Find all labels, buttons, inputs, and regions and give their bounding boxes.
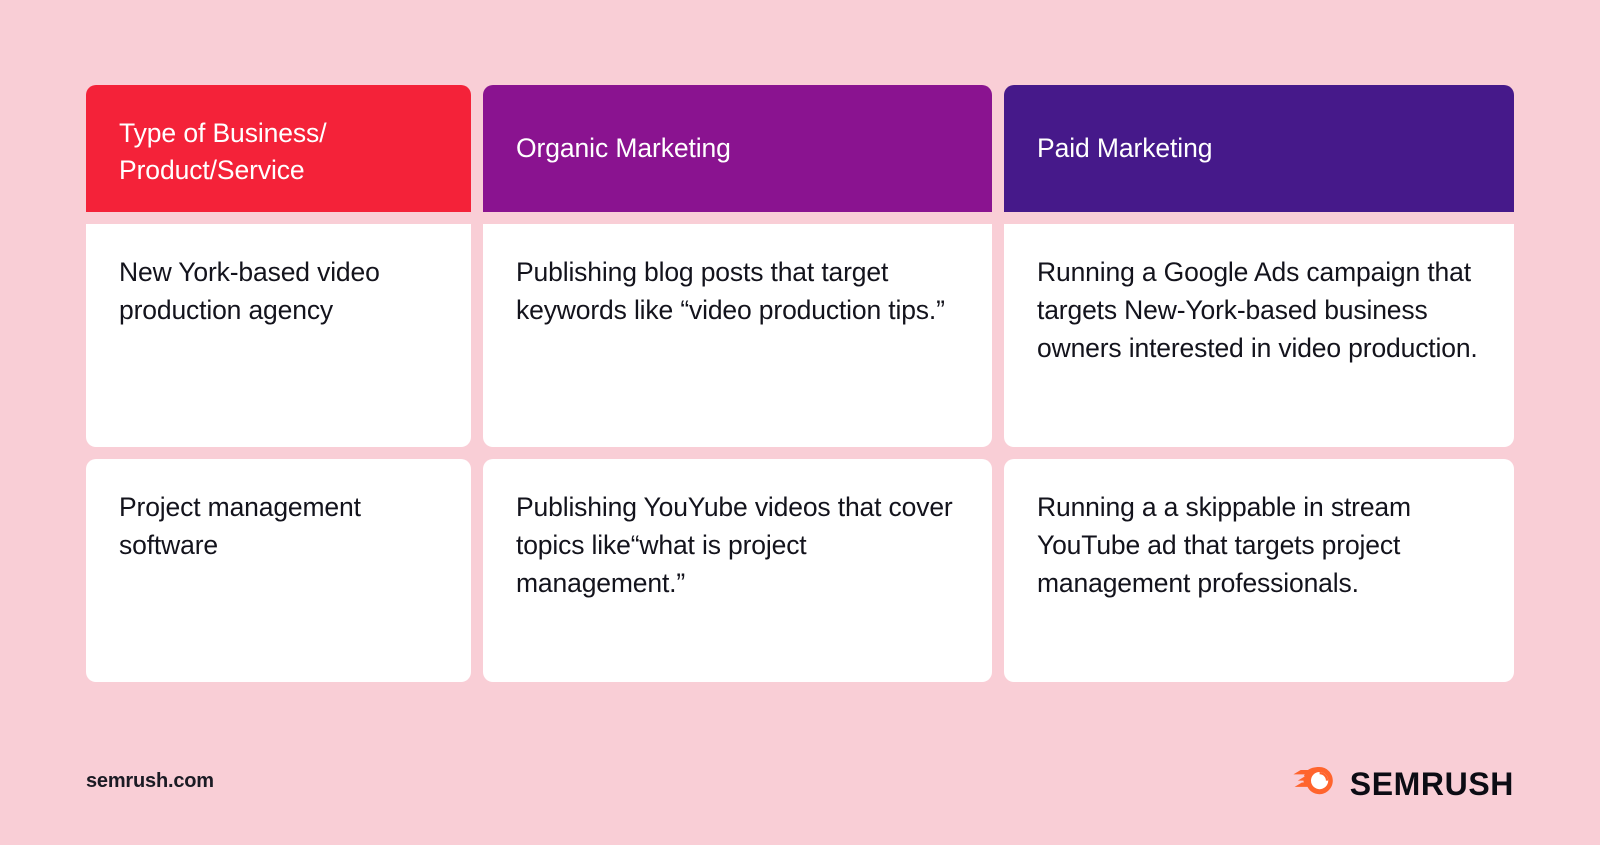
footer: semrush.com SEMRUSH bbox=[0, 760, 1600, 820]
semrush-wordmark: SEMRUSH bbox=[1350, 768, 1514, 800]
table-row: Running a Google Ads campaign that targe… bbox=[1004, 224, 1514, 447]
table-header-type-of-business: Type of Business/ Product/Service bbox=[86, 85, 471, 212]
semrush-comet-icon bbox=[1293, 764, 1339, 803]
table-row: Publishing YouYube videos that cover top… bbox=[483, 459, 992, 682]
cell-organic-marketing: Publishing blog posts that target keywor… bbox=[516, 257, 945, 325]
table-row: Publishing blog posts that target keywor… bbox=[483, 224, 992, 447]
comparison-table: Type of Business/ Product/Service Organi… bbox=[86, 85, 1514, 682]
cell-organic-marketing: Publishing YouYube videos that cover top… bbox=[516, 492, 953, 598]
table-row: New York-based video production agency bbox=[86, 224, 471, 447]
table-header-label: Type of Business/ Product/Service bbox=[119, 115, 326, 188]
cell-paid-marketing: Running a a skippable in stream YouTube … bbox=[1037, 492, 1411, 598]
site-url: semrush.com bbox=[86, 770, 214, 793]
table-row: Project management software bbox=[86, 459, 471, 682]
table-row: Running a a skippable in stream YouTube … bbox=[1004, 459, 1514, 682]
table-header-label: Paid Marketing bbox=[1037, 130, 1212, 167]
cell-paid-marketing: Running a Google Ads campaign that targe… bbox=[1037, 257, 1478, 363]
semrush-logo: SEMRUSH bbox=[1293, 764, 1514, 803]
table-header-organic-marketing: Organic Marketing bbox=[483, 85, 992, 212]
table-header-label: Organic Marketing bbox=[516, 130, 731, 167]
cell-business-type: New York-based video production agency bbox=[119, 257, 380, 325]
cell-business-type: Project management software bbox=[119, 492, 361, 560]
table-header-paid-marketing: Paid Marketing bbox=[1004, 85, 1514, 212]
infographic-page: Type of Business/ Product/Service Organi… bbox=[0, 0, 1600, 845]
